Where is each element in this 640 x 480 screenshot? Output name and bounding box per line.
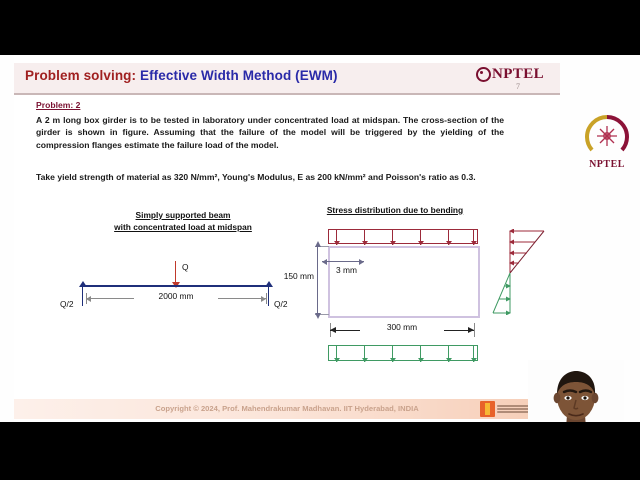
beam-diagram: Simply supported beam with concentrated … (74, 210, 294, 305)
compression-arrow-icon (336, 229, 337, 245)
width-dimension-label: 300 mm (360, 322, 444, 332)
depth-dimension-label: 150 mm (276, 271, 314, 281)
title-topic: Effective Width Method (EWM) (140, 68, 338, 83)
letterbox-top (0, 0, 640, 55)
problem-statement-paragraph: A 2 m long box girder is to be tested in… (36, 114, 504, 151)
span-extension-right (266, 293, 267, 304)
nptel-ring-icon (476, 67, 491, 82)
box-girder-section (328, 246, 480, 318)
compression-flange-band (328, 229, 478, 244)
reaction-arrow-right-icon (268, 286, 269, 306)
span-dimension-label: 2000 mm (134, 291, 218, 301)
video-player-stage: Problem solving: Effective Width Method … (0, 0, 640, 480)
problem-label: Problem: 2 (36, 100, 80, 110)
depth-dimension-line (317, 246, 318, 314)
tension-arrow-icon (473, 345, 474, 362)
title-divider (14, 93, 560, 95)
tension-arrow-icon (364, 345, 365, 362)
width-extension-right (474, 323, 475, 337)
title-prefix: Problem solving: (25, 68, 140, 83)
cross-section-diagram: Stress distribution due to bending 150 m… (302, 205, 552, 385)
load-arrow-icon (175, 261, 176, 285)
thickness-dimension-line (322, 261, 364, 262)
beam-diagram-caption-line2: with concentrated load at midspan (78, 222, 288, 232)
page-title: Problem solving: Effective Width Method … (25, 68, 338, 83)
presentation-slide: Problem solving: Effective Width Method … (14, 55, 560, 422)
compression-arrow-icon (473, 229, 474, 245)
thickness-dimension-label: 3 mm (336, 265, 357, 275)
stress-diagram-caption: Stress distribution due to bending (302, 205, 488, 215)
nptel-wordmark-label: NPTEL (492, 66, 544, 83)
tension-arrow-icon (336, 345, 337, 362)
tension-arrow-icon (448, 345, 449, 362)
slide-number: 7 (516, 82, 520, 91)
nptel-wordmark: NPTEL (476, 66, 544, 83)
nptel-watermark-label: NPTEL (578, 159, 636, 170)
reaction-arrow-left-icon (82, 286, 83, 306)
bending-stress-distribution (492, 229, 554, 315)
tension-flange-band (328, 345, 478, 361)
material-properties-paragraph: Take yield strength of material as 320 N… (36, 171, 504, 183)
beam-diagram-caption-line1: Simply supported beam (98, 210, 268, 220)
tension-arrow-icon (392, 345, 393, 362)
compression-arrow-icon (420, 229, 421, 245)
compression-arrow-icon (392, 229, 393, 245)
copyright-text: Copyright © 2024, Prof. Mahendrakumar Ma… (14, 404, 560, 413)
reaction-label-right: Q/2 (274, 299, 288, 309)
stress-triangle-svg (492, 229, 554, 315)
reaction-label-left: Q/2 (60, 299, 74, 309)
compression-arrow-icon (364, 229, 365, 245)
letterbox-bottom (0, 422, 640, 480)
load-label: Q (182, 262, 189, 272)
compression-arrow-icon (448, 229, 449, 245)
tension-arrow-icon (420, 345, 421, 362)
beam-member (82, 285, 270, 287)
nptel-watermark: NPTEL (578, 113, 636, 175)
nptel-logo-icon (578, 113, 636, 161)
iith-mark-icon (480, 401, 495, 417)
video-frame: Problem solving: Effective Width Method … (0, 55, 640, 422)
